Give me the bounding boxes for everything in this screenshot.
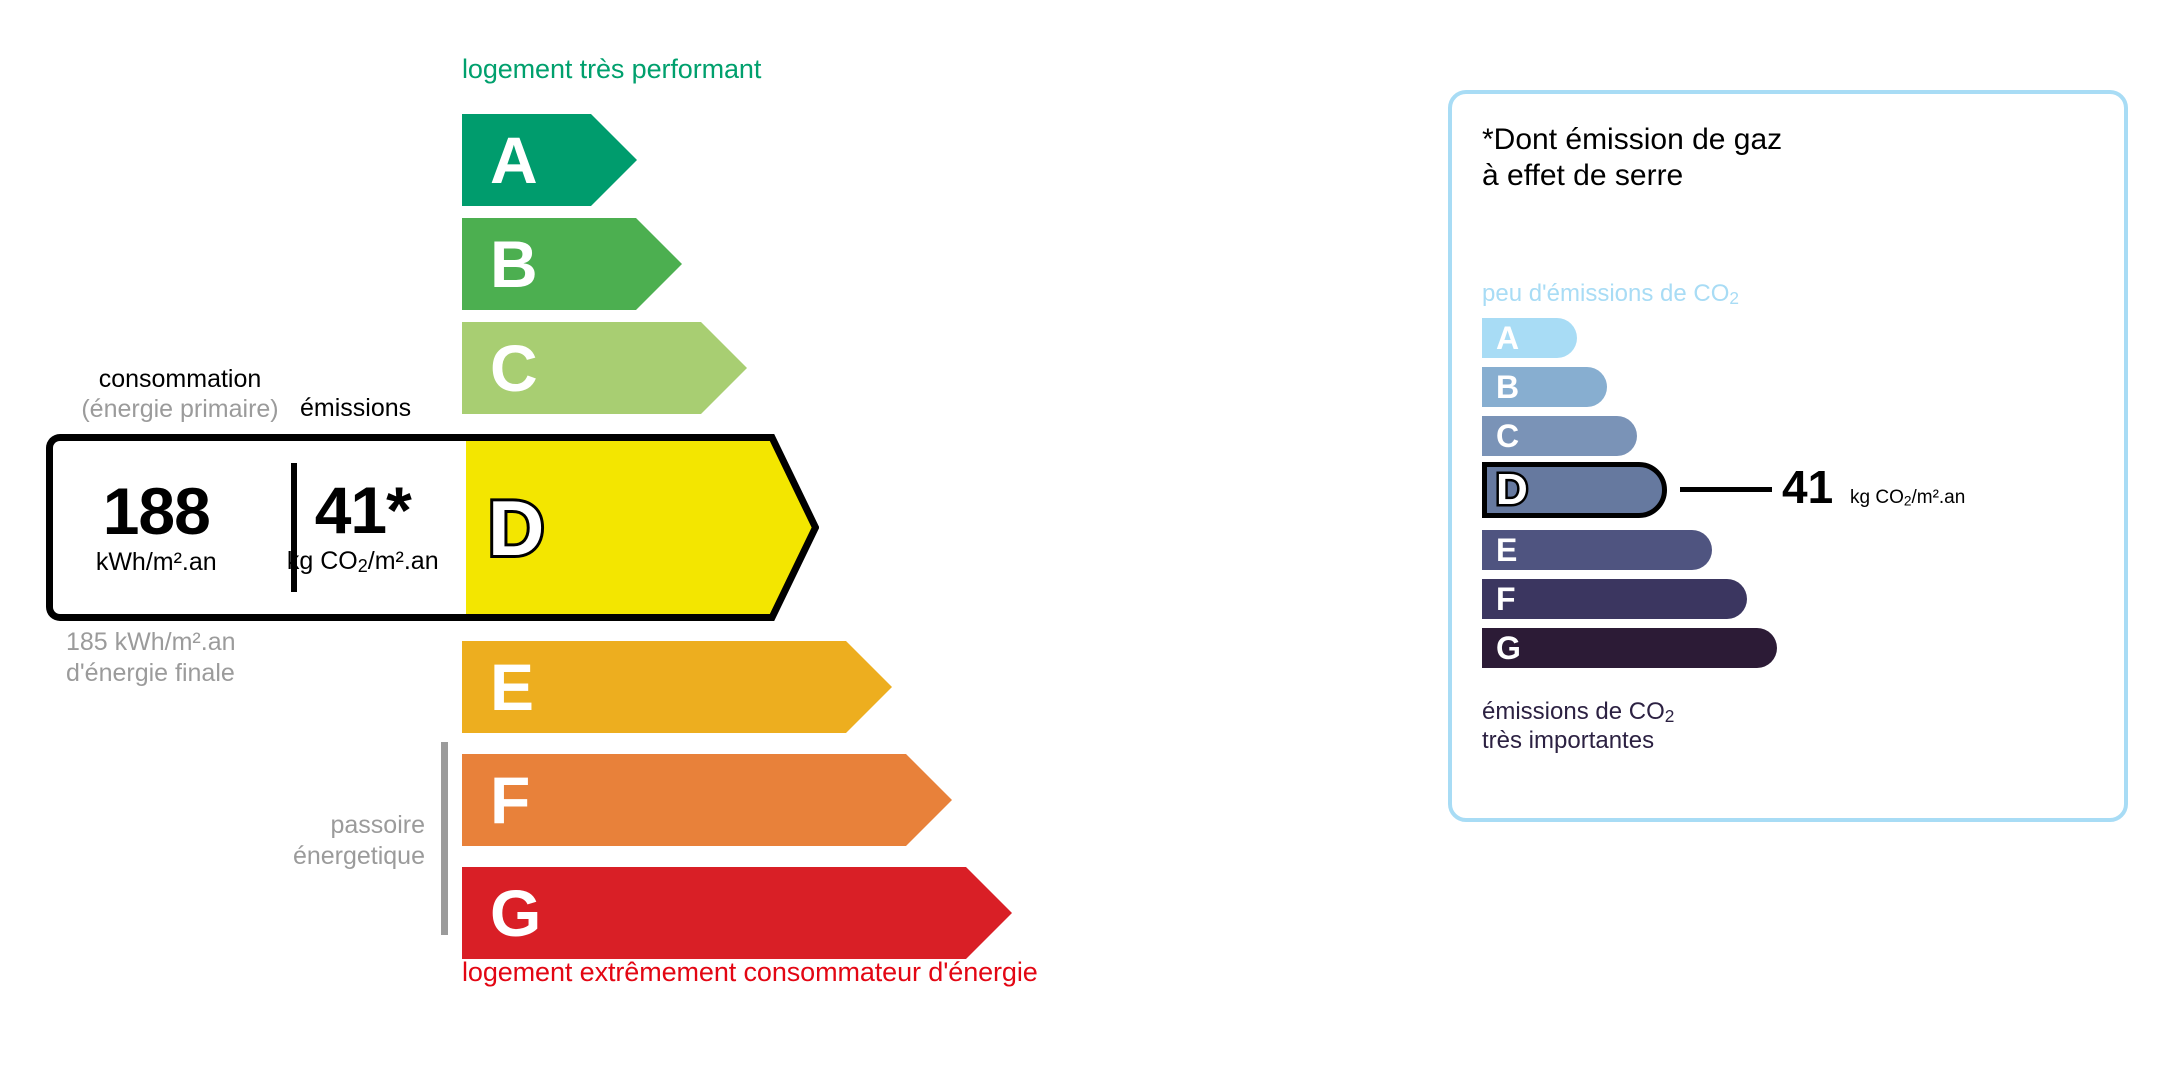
co2-bar-f [1482, 579, 1747, 619]
consumption-cell: 188 kWh/m².an [53, 478, 260, 577]
co2-title-line1: *Dont émission de gaz [1482, 123, 1782, 156]
co2-callout-unit-suffix: /m².an [1911, 487, 1965, 508]
energy-arrow-g: G [462, 867, 1012, 959]
emissions-unit-suffix: /m².an [368, 547, 439, 575]
caption-top-performant: logement très performant [462, 54, 761, 85]
emissions-value: 41* [260, 477, 467, 543]
co2-letter-f: F [1496, 583, 1516, 615]
energy-performance-scale: logement très performant A B C D [0, 0, 1400, 1079]
label-consommation-sub: (énergie primaire) [60, 394, 300, 424]
co2-row-d-selected: D [1482, 462, 1667, 518]
energy-arrow-b: B [462, 218, 682, 310]
energy-arrow-e: E [462, 641, 892, 733]
passoire-energetique-label: passoire énergetique [200, 810, 425, 873]
co2-panel-title: *Dont émission de gaz à effet de serre [1482, 122, 1782, 194]
co2-callout-unit-prefix: kg CO [1850, 487, 1904, 508]
co2-row-g: G [1482, 628, 1777, 668]
emissions-unit-prefix: kg CO [287, 547, 358, 575]
energy-arrow-f-shape [462, 754, 952, 846]
consumption-value: 188 [53, 478, 260, 544]
passoire-energetique-bracket [441, 742, 448, 935]
co2-callout-unit: kg CO2/m².an [1850, 487, 1965, 509]
energy-row-g: G [462, 867, 1012, 959]
energy-arrow-g-letter: G [490, 880, 541, 946]
label-consommation: consommation (énergie primaire) [60, 364, 300, 424]
energy-arrow-c: C [462, 322, 747, 414]
co2-caption-top-prefix: peu d'émissions de CO [1482, 280, 1729, 307]
emissions-cell: 41* kg CO2/m².an [260, 477, 467, 577]
energy-arrow-d-letter: D [488, 489, 544, 567]
co2-caption-tres-importantes: émissions de CO2 très importantes [1482, 698, 1674, 756]
co2-callout-value: 41 [1782, 464, 1833, 510]
co2-bar-g [1482, 628, 1777, 668]
value-box: 188 kWh/m².an 41* kg CO2/m².an [46, 434, 466, 621]
energy-arrow-d: D [462, 434, 819, 621]
co2-row-a: A [1482, 318, 1577, 358]
energy-row-f: F [462, 754, 952, 846]
energy-arrow-e-letter: E [490, 654, 534, 720]
co2-caption-bottom-sub: 2 [1665, 706, 1675, 726]
co2-emissions-panel: *Dont émission de gaz à effet de serre p… [1448, 90, 2128, 822]
co2-letter-g: G [1496, 632, 1521, 664]
energy-row-a: A [462, 114, 637, 206]
co2-letter-a: A [1496, 322, 1519, 354]
note-finale-line2: d'énergie finale [66, 659, 235, 687]
energy-arrow-a-shape [462, 114, 637, 206]
co2-caption-bottom-line2: très importantes [1482, 727, 1654, 754]
consumption-unit: kWh/m².an [53, 548, 260, 577]
co2-letter-d: D [1496, 468, 1528, 512]
co2-row-f: F [1482, 579, 1747, 619]
label-emissions: émissions [300, 394, 411, 423]
energy-arrow-a-letter: A [490, 127, 538, 193]
passoire-label-line2: énergetique [293, 842, 425, 870]
co2-letter-b: B [1496, 371, 1519, 403]
co2-letter-e: E [1496, 534, 1517, 566]
co2-title-line2: à effet de serre [1482, 159, 1683, 192]
co2-caption-peu-emissions: peu d'émissions de CO2 [1482, 280, 1739, 309]
co2-caption-top-sub: 2 [1729, 288, 1739, 308]
energy-arrow-f: F [462, 754, 952, 846]
co2-letter-c: C [1496, 420, 1519, 452]
energy-row-e: E [462, 641, 892, 733]
co2-row-b: B [1482, 367, 1607, 407]
co2-row-c: C [1482, 416, 1637, 456]
co2-caption-bottom-line1: émissions de CO2 [1482, 698, 1674, 725]
co2-caption-bottom-prefix: émissions de CO [1482, 698, 1665, 725]
caption-bottom-consommateur: logement extrêmement consommateur d'éner… [462, 957, 1038, 988]
energy-arrow-a: A [462, 114, 637, 206]
note-finale-line1: 185 kWh/m².an [66, 628, 236, 656]
passoire-label-line1: passoire [331, 811, 426, 839]
energy-arrow-c-letter: C [490, 335, 538, 401]
note-energie-finale: 185 kWh/m².an d'énergie finale [66, 627, 236, 690]
label-consommation-main: consommation [99, 365, 262, 393]
energy-row-c: C [462, 322, 747, 414]
energy-arrow-f-letter: F [490, 767, 530, 833]
emissions-unit-sub: 2 [358, 557, 368, 577]
energy-row-d-selected: D [462, 434, 819, 621]
energy-arrow-b-letter: B [490, 231, 538, 297]
co2-callout-leader-line [1680, 487, 1772, 492]
energy-row-b: B [462, 218, 682, 310]
emissions-unit: kg CO2/m².an [260, 547, 467, 577]
co2-row-e: E [1482, 530, 1712, 570]
energy-arrow-g-shape [462, 867, 1012, 959]
